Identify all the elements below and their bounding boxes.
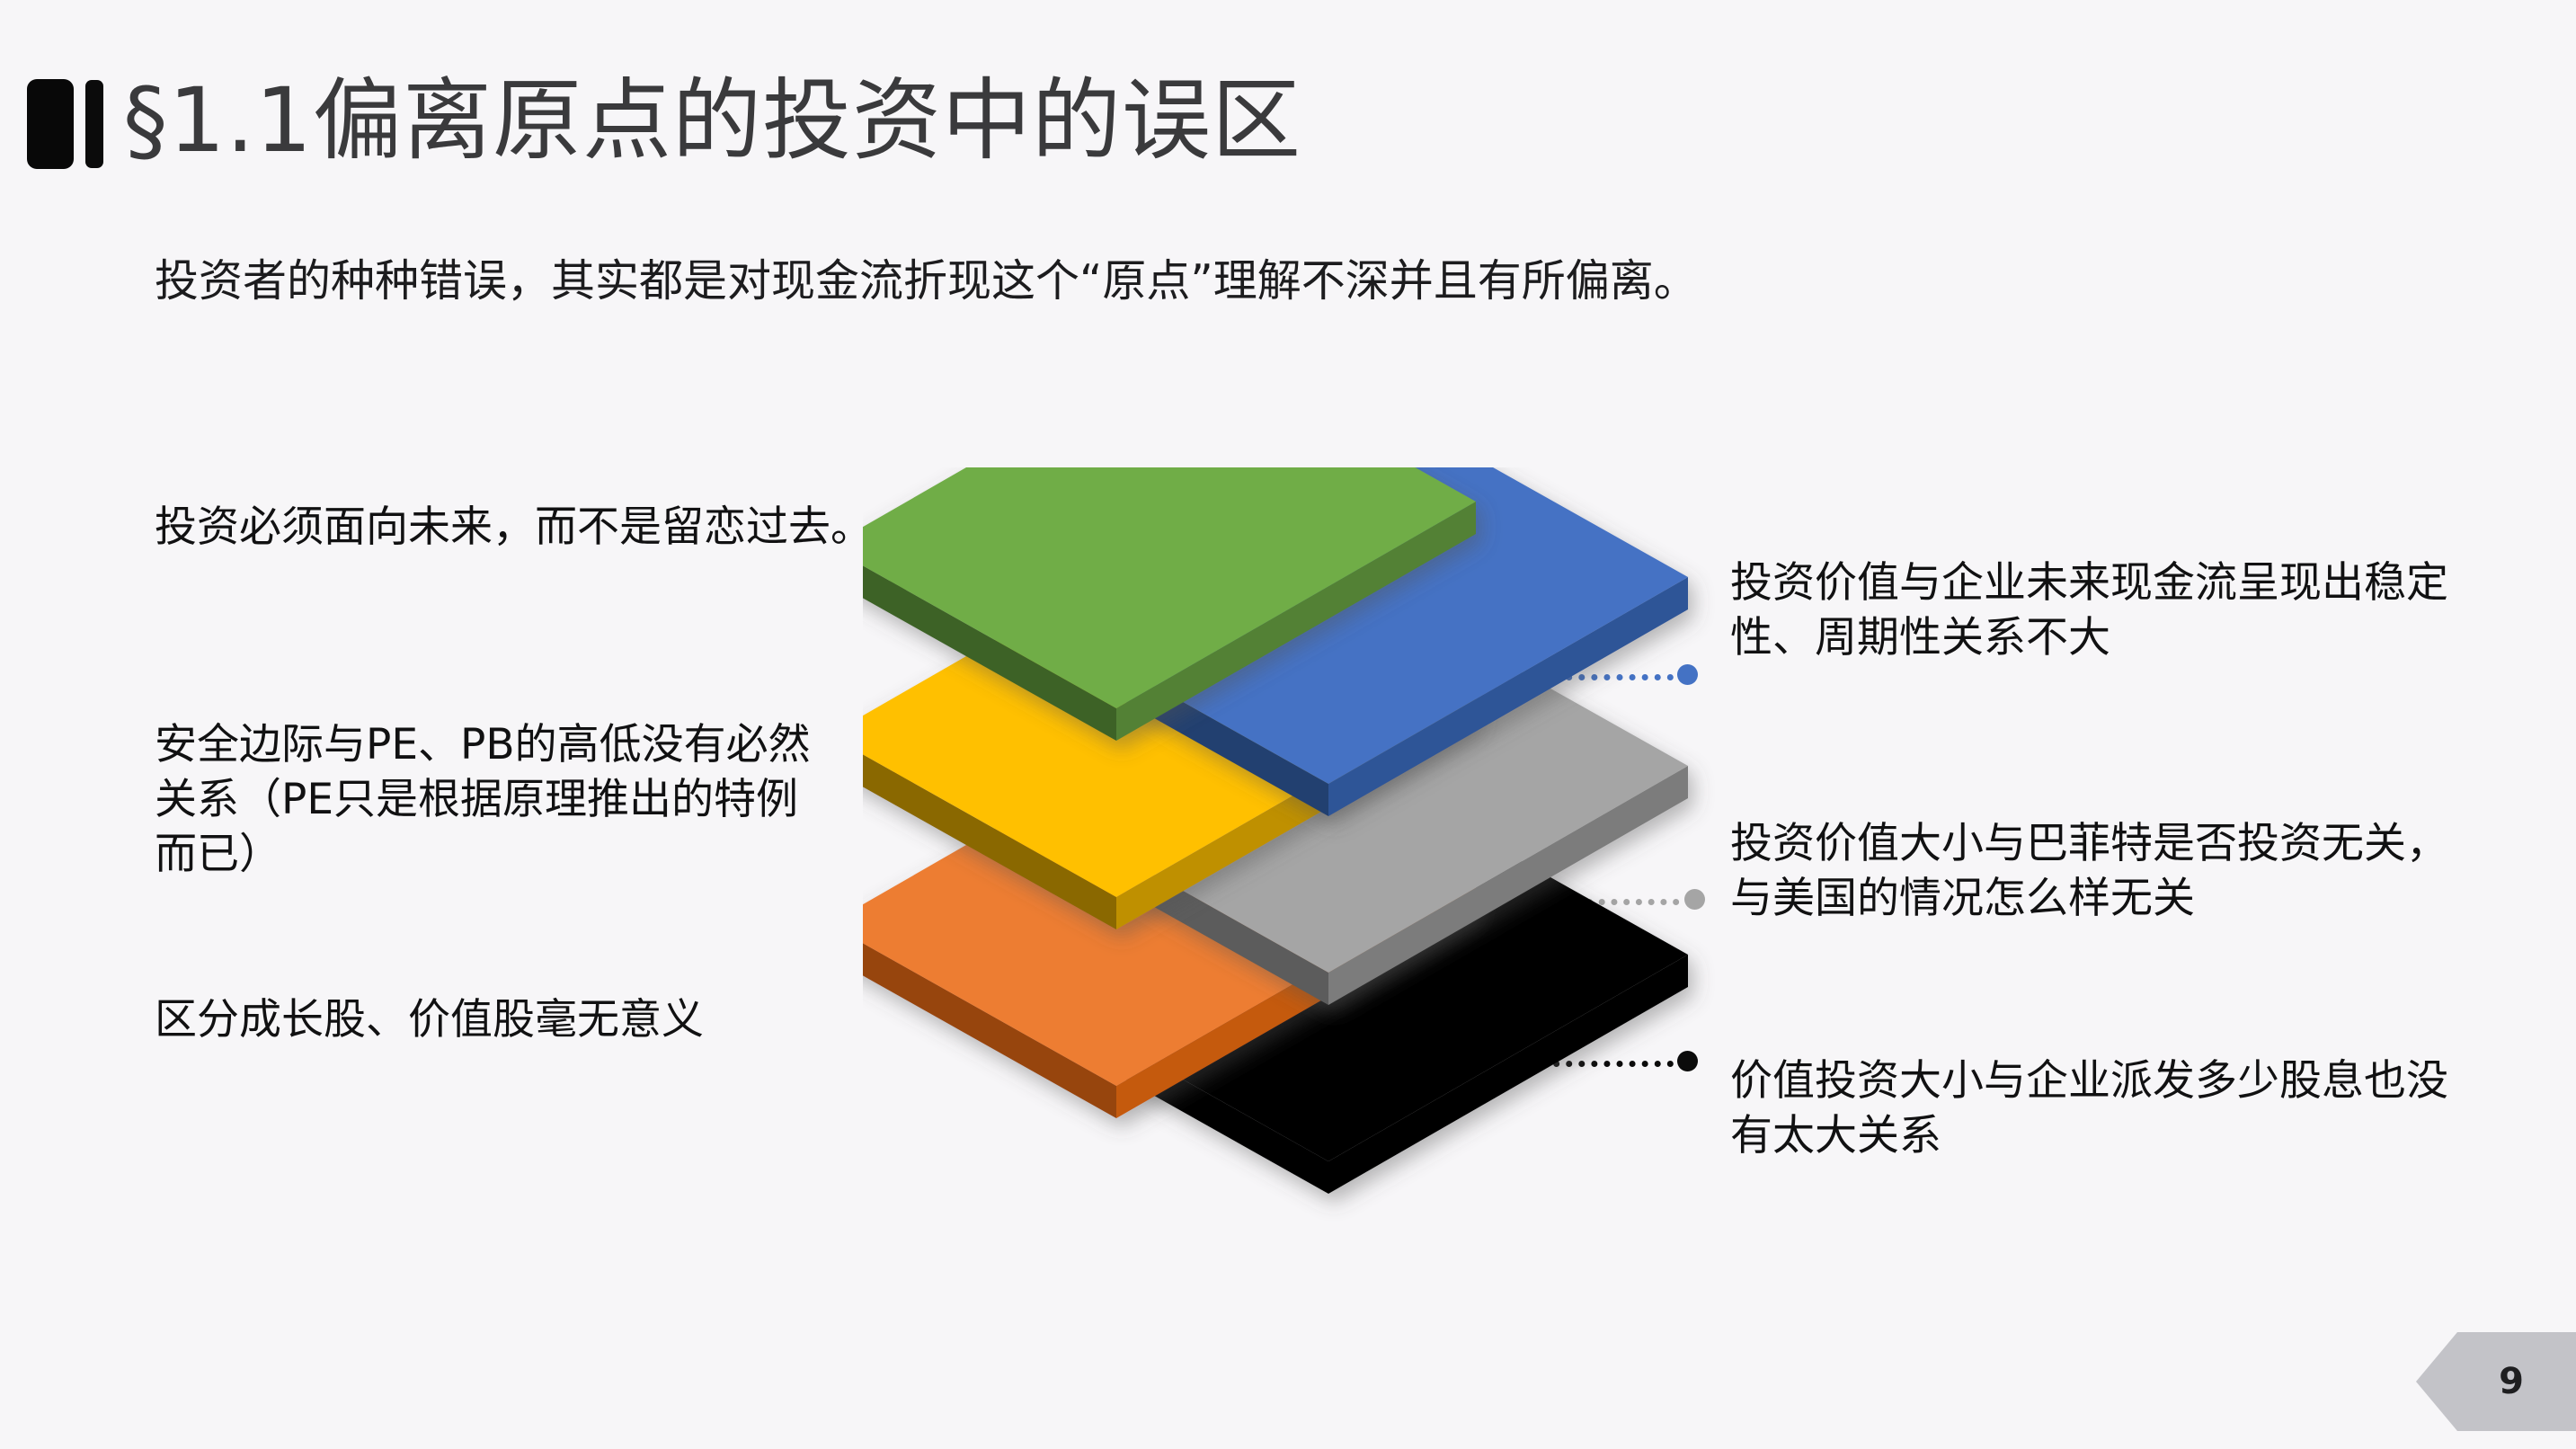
page-number-badge: 9	[2416, 1332, 2576, 1431]
left-note-2: 区分成长股、价值股毫无意义	[155, 992, 874, 1047]
right-note-1: 投资价值大小与巴菲特是否投资无关，与美国的情况怎么样无关	[1730, 816, 2467, 926]
left-note-1: 安全边际与PE、PB的高低没有必然关系（PE只是根据原理推出的特例而已）	[155, 717, 838, 882]
right-note-0: 投资价值与企业未来现金流呈现出稳定性、周期性关系不大	[1730, 556, 2458, 665]
page-number: 9	[2499, 1361, 2524, 1402]
title-accent-mark	[27, 79, 103, 169]
right-note-2: 价值投资大小与企业派发多少股息也没有太大关系	[1730, 1053, 2476, 1163]
accent-bar-thin-icon	[85, 80, 103, 168]
title-row: §1.1偏离原点的投资中的误区	[27, 74, 1301, 169]
left-note-0: 投资必须面向未来，而不是留恋过去。	[155, 500, 874, 555]
page-subtitle: 投资者的种种错误，其实都是对现金流折现这个“原点”理解不深并且有所偏离。	[155, 253, 1698, 308]
layered-stack-diagram	[863, 467, 1834, 1240]
page-title: §1.1偏离原点的投资中的误区	[123, 76, 1301, 167]
accent-bar-wide-icon	[27, 79, 74, 169]
slide-canvas: §1.1偏离原点的投资中的误区 投资者的种种错误，其实都是对现金流折现这个“原点…	[0, 0, 2576, 1449]
